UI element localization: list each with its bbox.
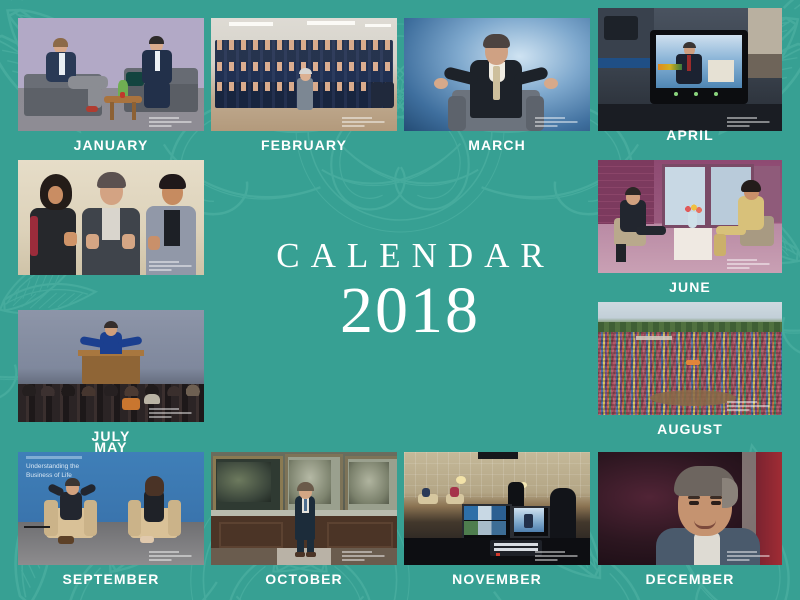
photo-credit-december	[727, 551, 777, 561]
calendar-poster: JANUARY FEBRUARY	[0, 0, 800, 600]
photo-march	[404, 18, 590, 131]
photo-october	[211, 452, 397, 565]
photo-credit-july	[149, 408, 199, 418]
month-label-december: DECEMBER	[598, 571, 782, 587]
photo-credit-may	[149, 261, 199, 271]
photo-august	[598, 302, 782, 415]
month-tile-december[interactable]: DECEMBER	[598, 452, 782, 565]
month-label-july: JULY	[18, 428, 204, 444]
photo-september: Understanding the Business of Life	[18, 452, 204, 565]
month-label-march: MARCH	[404, 137, 590, 153]
month-tile-march[interactable]: MARCH	[404, 18, 590, 131]
month-tile-october[interactable]: OCTOBER	[211, 452, 397, 565]
photo-credit-september	[149, 551, 199, 561]
photo-may	[18, 160, 204, 275]
month-label-august: AUGUST	[598, 421, 782, 437]
calendar-title-word: CALENDAR	[250, 238, 570, 273]
month-label-october: OCTOBER	[211, 571, 397, 587]
month-label-february: FEBRUARY	[211, 137, 397, 153]
month-tile-january[interactable]: JANUARY	[18, 18, 204, 131]
photo-credit-february	[342, 117, 392, 127]
month-label-april: APRIL	[598, 127, 782, 143]
month-tile-may[interactable]: MAY	[18, 160, 204, 275]
month-label-september: SEPTEMBER	[18, 571, 204, 587]
month-tile-september[interactable]: Understanding the Business of Life SE	[18, 452, 204, 565]
photo-credit-november	[535, 551, 585, 561]
photo-credit-april	[727, 117, 777, 127]
month-tile-august[interactable]: AUGUST	[598, 302, 782, 415]
photo-february	[211, 18, 397, 131]
month-label-november: NOVEMBER	[404, 571, 590, 587]
photo-credit-june	[727, 259, 777, 269]
photo-november	[404, 452, 590, 565]
month-tile-february[interactable]: FEBRUARY	[211, 18, 397, 131]
month-tile-november[interactable]: NOVEMBER	[404, 452, 590, 565]
month-label-june: JUNE	[598, 279, 782, 295]
month-label-january: JANUARY	[18, 137, 204, 153]
photo-credit-august	[727, 401, 777, 411]
calendar-title-year: 2018	[250, 277, 570, 344]
photo-january	[18, 18, 204, 131]
photo-april	[598, 8, 782, 131]
photo-june	[598, 160, 782, 273]
photo-credit-march	[535, 117, 585, 127]
photo-credit-january	[149, 117, 199, 127]
photo-credit-october	[342, 551, 392, 561]
calendar-title-block: CALENDAR 2018	[250, 238, 570, 344]
month-tile-april[interactable]: APRIL	[598, 8, 782, 131]
september-screen-caption: Understanding the Business of Life	[26, 462, 88, 480]
month-tile-june[interactable]: JUNE	[598, 160, 782, 273]
photo-july	[18, 310, 204, 422]
photo-december	[598, 452, 782, 565]
month-tile-july[interactable]: JULY	[18, 310, 204, 422]
